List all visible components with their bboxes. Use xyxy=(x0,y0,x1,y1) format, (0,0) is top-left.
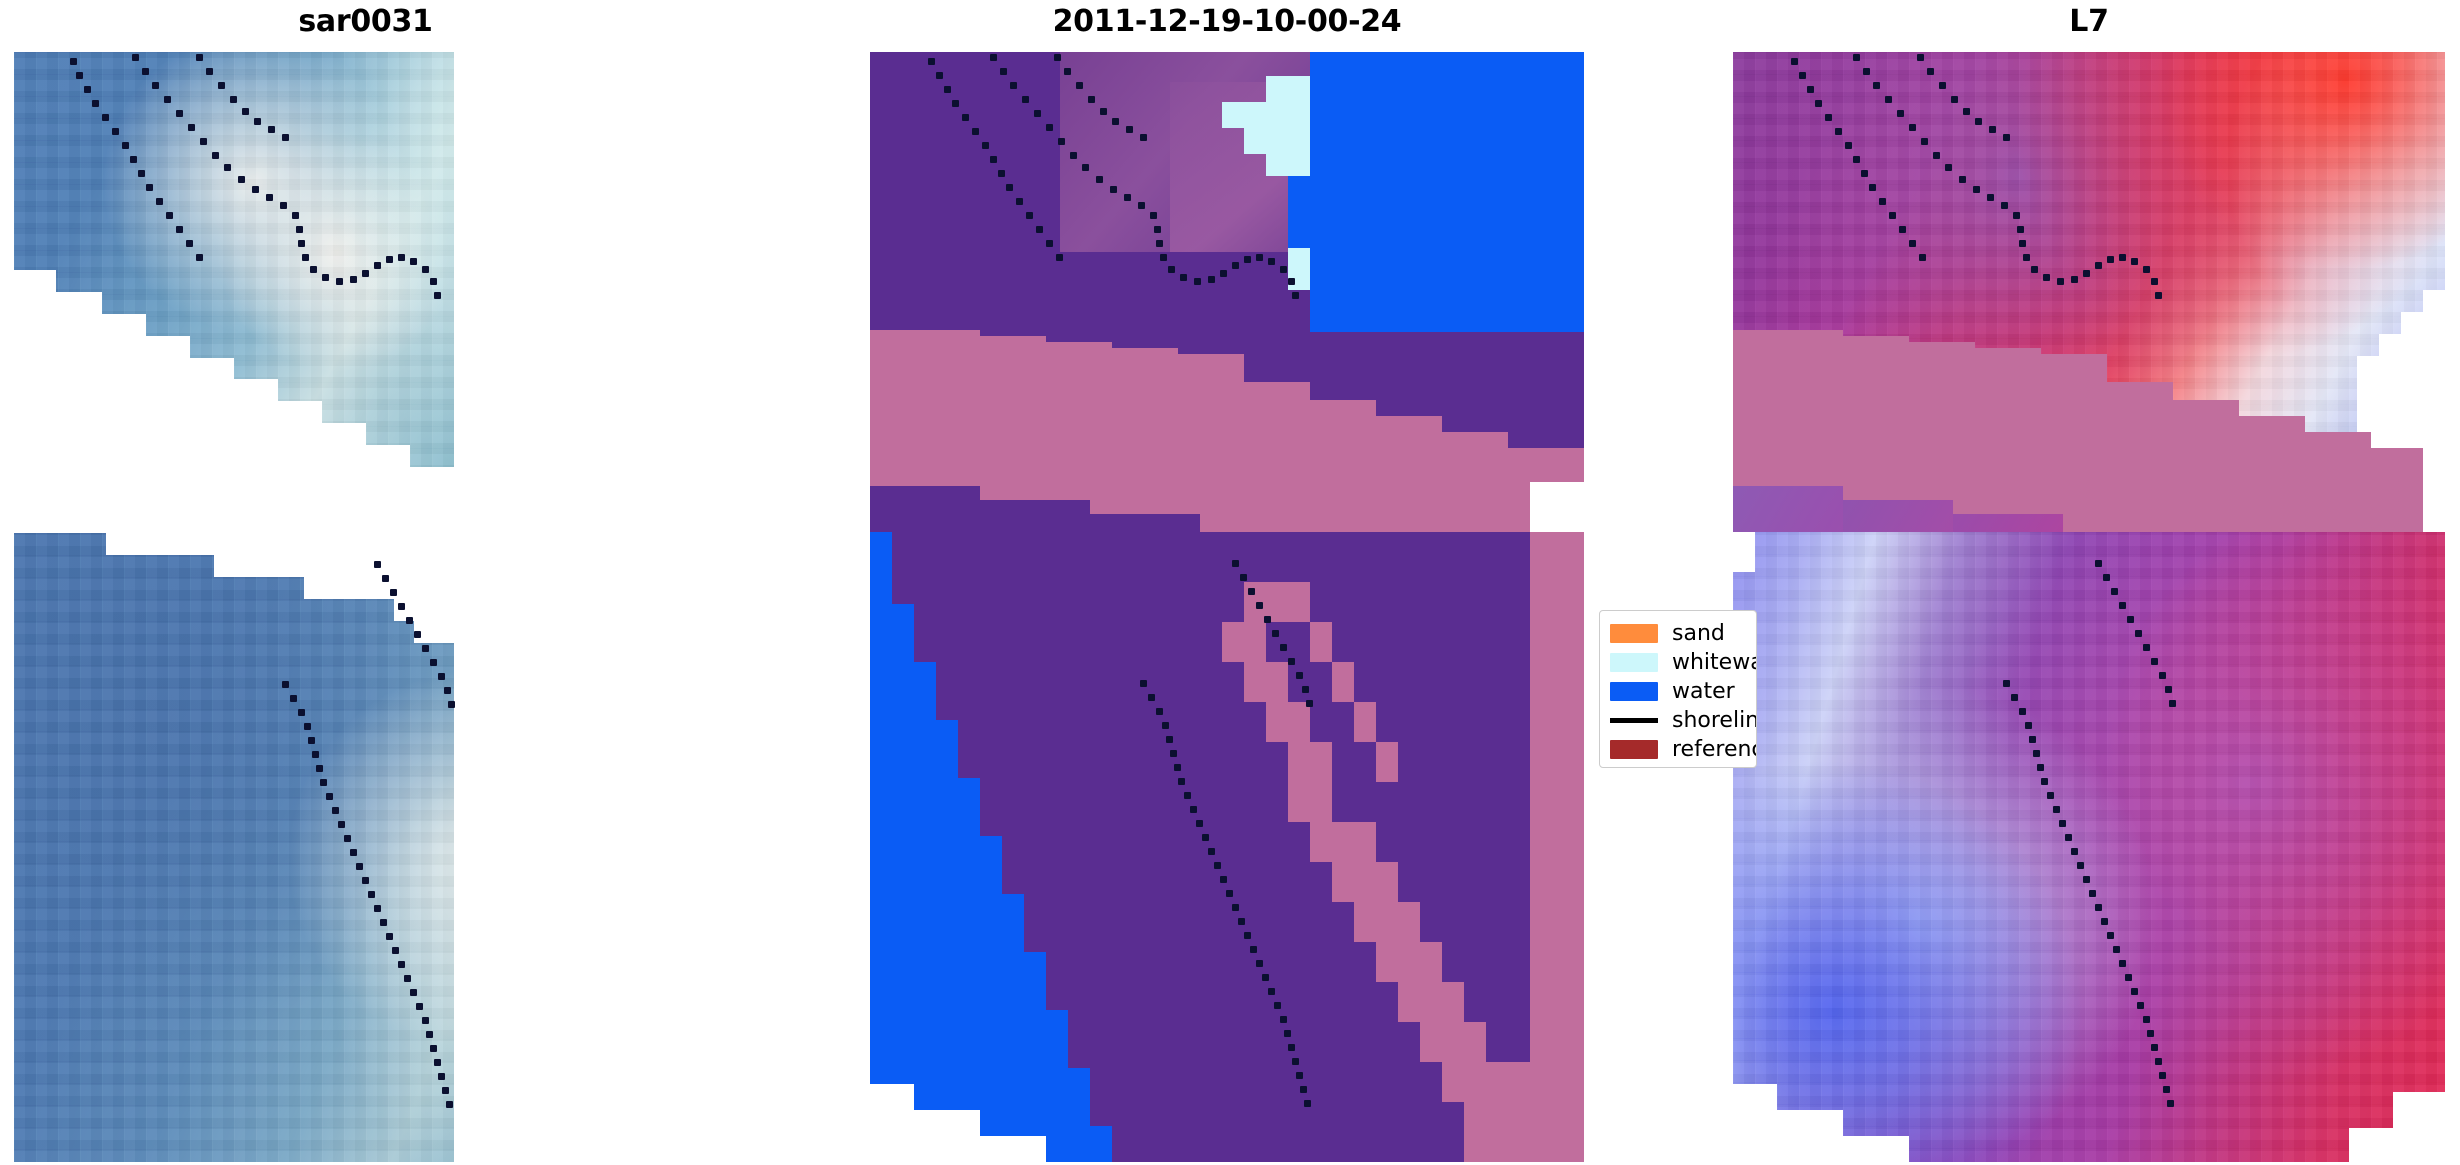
legend-swatch-whitewater xyxy=(1610,653,1658,672)
legend-label-water: water xyxy=(1672,681,1735,703)
panel-classification xyxy=(870,52,1584,1162)
classification-lower-tile xyxy=(870,532,1584,1162)
panel-title-sar: sar0031 xyxy=(14,4,717,39)
sar-upper-tile xyxy=(14,52,717,487)
legend-label-sand: sand xyxy=(1672,623,1725,645)
legend-swatch-sand xyxy=(1610,624,1658,643)
legend-item-reference: reference xyxy=(1600,735,1756,764)
legend-box: sand whitewater water shoreline referenc… xyxy=(1599,610,1757,768)
sar-lower-tile xyxy=(14,533,717,1162)
legend-item-shoreline: shoreline xyxy=(1600,706,1756,735)
l7-lower-tile xyxy=(1733,532,2445,1162)
legend-item-water: water xyxy=(1600,677,1756,706)
legend-label-shoreline: shoreline xyxy=(1672,710,1757,732)
classification-upper-tile xyxy=(870,52,1584,532)
legend-item-sand: sand xyxy=(1600,619,1756,648)
panel-l7-index xyxy=(1733,52,2445,1162)
panel-title-l7: L7 xyxy=(1733,4,2445,39)
legend-label-reference: reference xyxy=(1672,739,1757,761)
legend-swatch-water xyxy=(1610,682,1658,701)
legend-label-whitewater: whitewater xyxy=(1672,652,1757,674)
legend-swatch-reference xyxy=(1610,740,1658,759)
panel-title-timestamp: 2011-12-19-10-00-24 xyxy=(870,4,1584,39)
panel-sar-composite xyxy=(14,52,717,1162)
legend-item-whitewater: whitewater xyxy=(1600,648,1756,677)
figure-canvas: sar0031 2011-12-19-10-00-24 L7 xyxy=(0,0,2460,1165)
legend-swatch-shoreline xyxy=(1610,718,1658,723)
l7-upper-tile xyxy=(1733,52,2445,532)
